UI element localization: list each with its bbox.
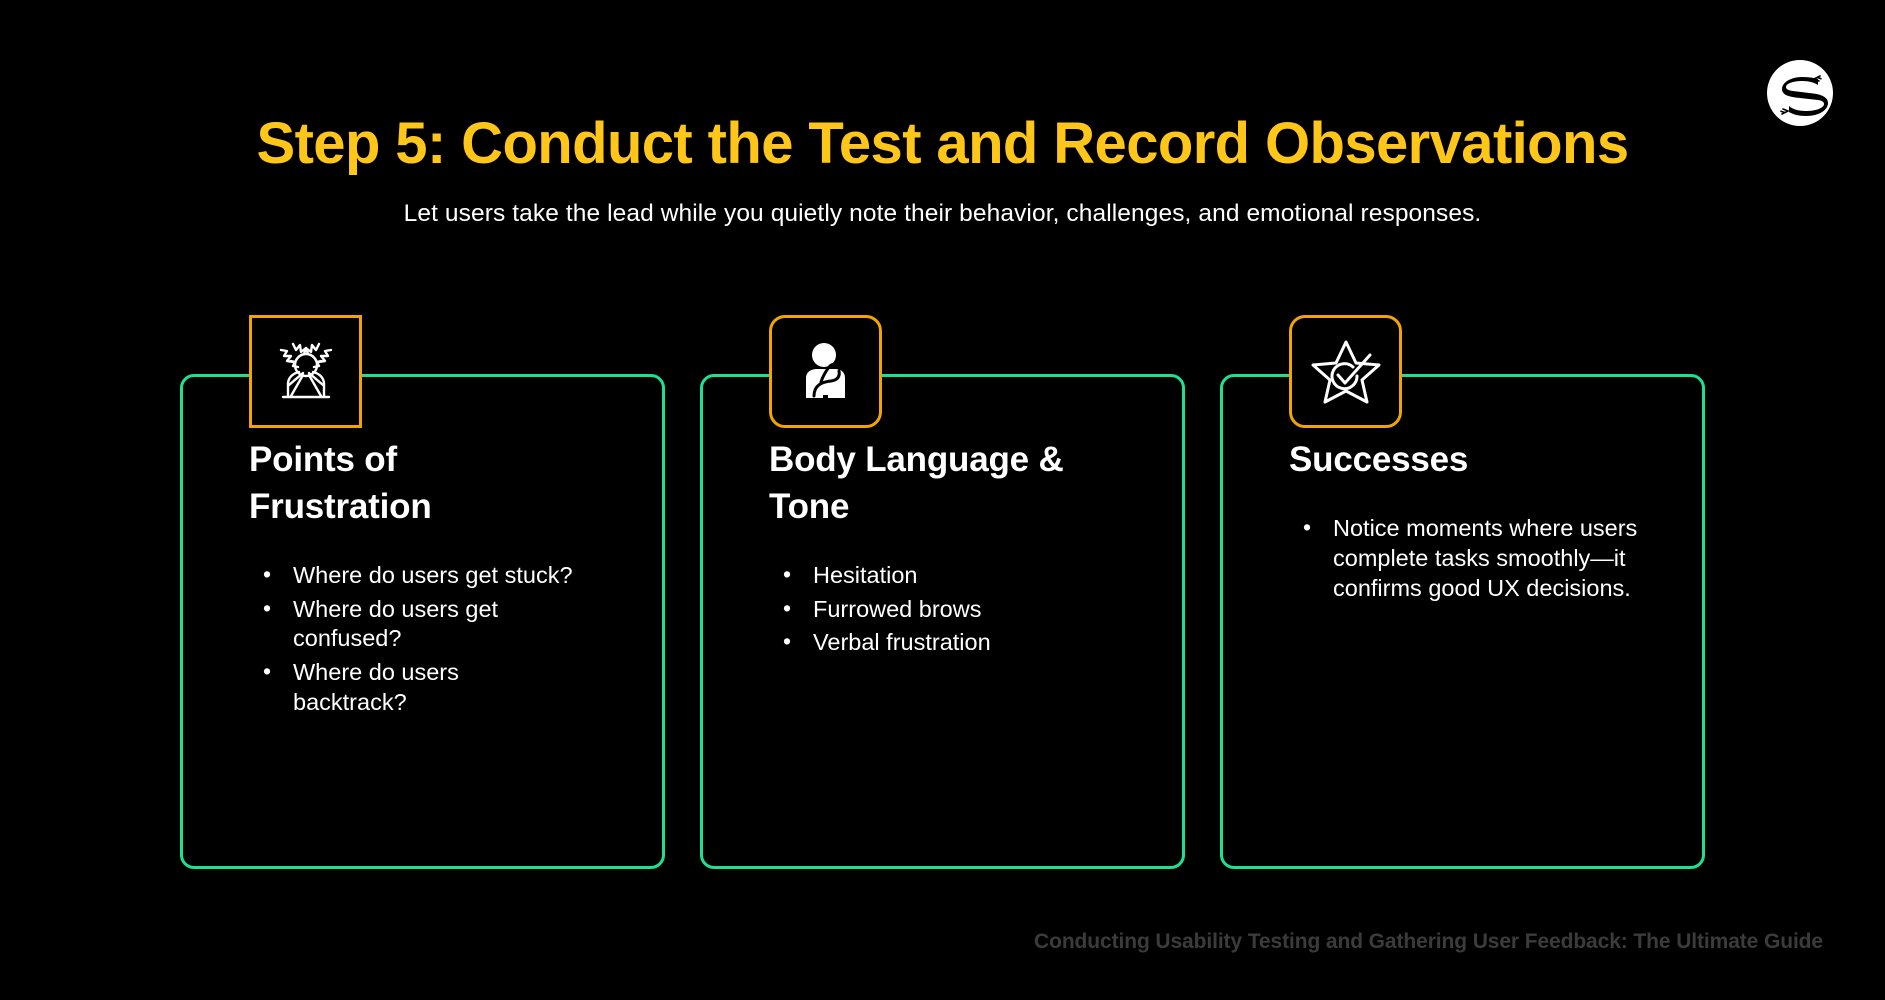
list-item: Where do users backtrack? [249, 658, 579, 718]
card-bullet-list: Notice moments where users complete task… [1289, 514, 1658, 604]
list-item: Verbal frustration [769, 628, 1129, 658]
card-title: Body Language & Tone [769, 437, 1129, 531]
list-item: Where do users get stuck? [249, 561, 579, 591]
card-body: Points of Frustration Where do users get… [183, 437, 662, 722]
list-item: Where do users get confused? [249, 595, 579, 655]
card-bullet-list: Hesitation Furrowed brows Verbal frustra… [769, 561, 1138, 659]
list-item: Notice moments where users complete task… [1289, 514, 1649, 604]
cards-row: Points of Frustration Where do users get… [180, 374, 1705, 869]
footer-credit: Conducting Usability Testing and Gatheri… [0, 930, 1885, 954]
card-title: Successes [1289, 437, 1649, 484]
card-points-of-frustration: Points of Frustration Where do users get… [180, 374, 665, 869]
card-body: Successes Notice moments where users com… [1223, 437, 1702, 607]
page-title: Step 5: Conduct the Test and Record Obse… [0, 112, 1885, 177]
frustrated-person-icon [249, 315, 362, 428]
card-title: Points of Frustration [249, 437, 579, 531]
card-body: Body Language & Tone Hesitation Furrowed… [703, 437, 1182, 662]
page-subtitle: Let users take the lead while you quietl… [0, 200, 1885, 228]
card-bullet-list: Where do users get stuck? Where do users… [249, 561, 618, 718]
star-checkmark-icon [1289, 315, 1402, 428]
card-body-language-and-tone: Body Language & Tone Hesitation Furrowed… [700, 374, 1185, 869]
list-item: Furrowed brows [769, 595, 1129, 625]
card-successes: Successes Notice moments where users com… [1220, 374, 1705, 869]
thinking-person-icon [769, 315, 882, 428]
list-item: Hesitation [769, 561, 1129, 591]
